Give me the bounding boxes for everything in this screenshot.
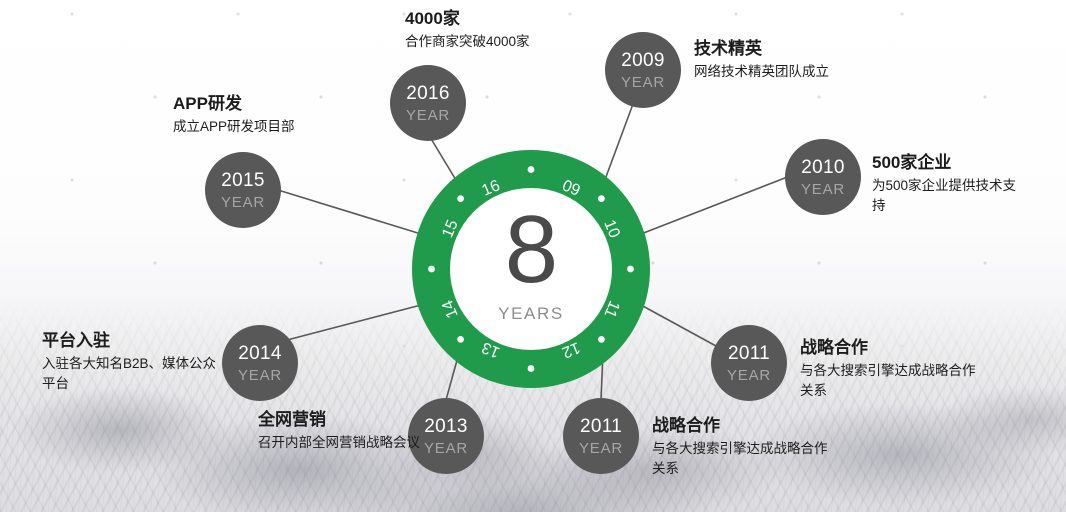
year-node-2014-year: 2014 xyxy=(238,344,281,363)
connector-2014 xyxy=(268,305,421,345)
connector-2015 xyxy=(278,190,421,234)
year-node-2009-sub: YEAR xyxy=(621,75,665,90)
milestone-label-2013: 全网营销 召开内部全网营销战略会议 xyxy=(258,409,430,453)
milestone-label-2016-title: 4000家 xyxy=(405,8,615,29)
milestone-label-2014-desc: 入驻各大知名B2B、媒体公众平台 xyxy=(42,354,220,393)
milestone-label-2009-title: 技术精英 xyxy=(694,38,914,59)
milestone-label-2011-bottom-desc: 与各大搜索引擎达成战略合作关系 xyxy=(652,439,832,478)
milestone-label-2010-desc: 为500家企业提供技术支持 xyxy=(872,176,1024,215)
milestone-label-2010-title: 500家企业 xyxy=(872,152,1024,173)
year-node-2011-right[interactable]: 2011 YEAR xyxy=(711,325,787,401)
milestone-label-2013-title: 全网营销 xyxy=(258,409,430,430)
year-node-2011-bottom[interactable]: 2011 YEAR xyxy=(563,398,639,474)
year-node-2014[interactable]: 2014 YEAR xyxy=(222,325,298,401)
year-node-2015-sub: YEAR xyxy=(221,195,265,210)
year-node-2015-year: 2015 xyxy=(221,171,264,190)
year-node-2010-year: 2010 xyxy=(801,158,844,177)
milestone-label-2016-desc: 合作商家突破4000家 xyxy=(405,32,615,52)
milestone-label-2014: 平台入驻 入驻各大知名B2B、媒体公众平台 xyxy=(42,330,220,393)
year-node-2010[interactable]: 2010 YEAR xyxy=(785,139,861,215)
milestone-label-2013-desc: 召开内部全网营销战略会议 xyxy=(258,433,430,453)
year-node-2011-bottom-year: 2011 xyxy=(580,417,622,436)
year-node-2011-bottom-sub: YEAR xyxy=(579,441,623,456)
years-unit-label: YEARS xyxy=(498,304,564,324)
milestone-label-2011-right-title: 战略合作 xyxy=(800,337,980,358)
year-node-2016-year: 2016 xyxy=(406,84,449,103)
year-node-2015[interactable]: 2015 YEAR xyxy=(205,152,281,228)
years-count: 8 xyxy=(505,208,557,292)
year-node-2011-right-year: 2011 xyxy=(728,344,770,363)
year-node-2014-sub: YEAR xyxy=(238,368,282,383)
central-ring: 09 10 11 12 13 14 15 16 8 YEARS xyxy=(412,150,650,388)
milestone-label-2015: APP研发 成立APP研发项目部 xyxy=(173,93,393,137)
connector-2011-right xyxy=(641,305,716,346)
year-node-2009[interactable]: 2009 YEAR xyxy=(605,32,681,108)
milestone-label-2015-desc: 成立APP研发项目部 xyxy=(173,117,393,137)
milestone-label-2014-title: 平台入驻 xyxy=(42,330,220,351)
milestone-label-2015-title: APP研发 xyxy=(173,93,393,114)
milestone-label-2016: 4000家 合作商家突破4000家 xyxy=(405,8,615,52)
year-node-2011-right-sub: YEAR xyxy=(727,368,771,383)
connector-2010 xyxy=(641,176,790,234)
milestone-label-2011-bottom: 战略合作 与各大搜索引擎达成战略合作关系 xyxy=(652,415,832,478)
year-node-2013-sub: YEAR xyxy=(424,441,468,456)
milestone-label-2009: 技术精英 网络技术精英团队成立 xyxy=(694,38,914,82)
milestone-label-2011-right: 战略合作 与各大搜索引擎达成战略合作关系 xyxy=(800,337,980,400)
ring-center-content: 8 YEARS xyxy=(450,188,612,350)
year-node-2013-year: 2013 xyxy=(424,417,467,436)
infographic-canvas: 09 10 11 12 13 14 15 16 8 YEARS 2016 YEA… xyxy=(0,0,1066,512)
milestone-label-2010: 500家企业 为500家企业提供技术支持 xyxy=(872,152,1024,215)
milestone-label-2009-desc: 网络技术精英团队成立 xyxy=(694,62,914,82)
year-node-2016-sub: YEAR xyxy=(406,108,450,123)
year-node-2009-year: 2009 xyxy=(621,51,664,70)
milestone-label-2011-bottom-title: 战略合作 xyxy=(652,415,832,436)
year-node-2016[interactable]: 2016 YEAR xyxy=(390,65,466,141)
year-node-2010-sub: YEAR xyxy=(801,182,845,197)
milestone-label-2011-right-desc: 与各大搜索引擎达成战略合作关系 xyxy=(800,361,980,400)
